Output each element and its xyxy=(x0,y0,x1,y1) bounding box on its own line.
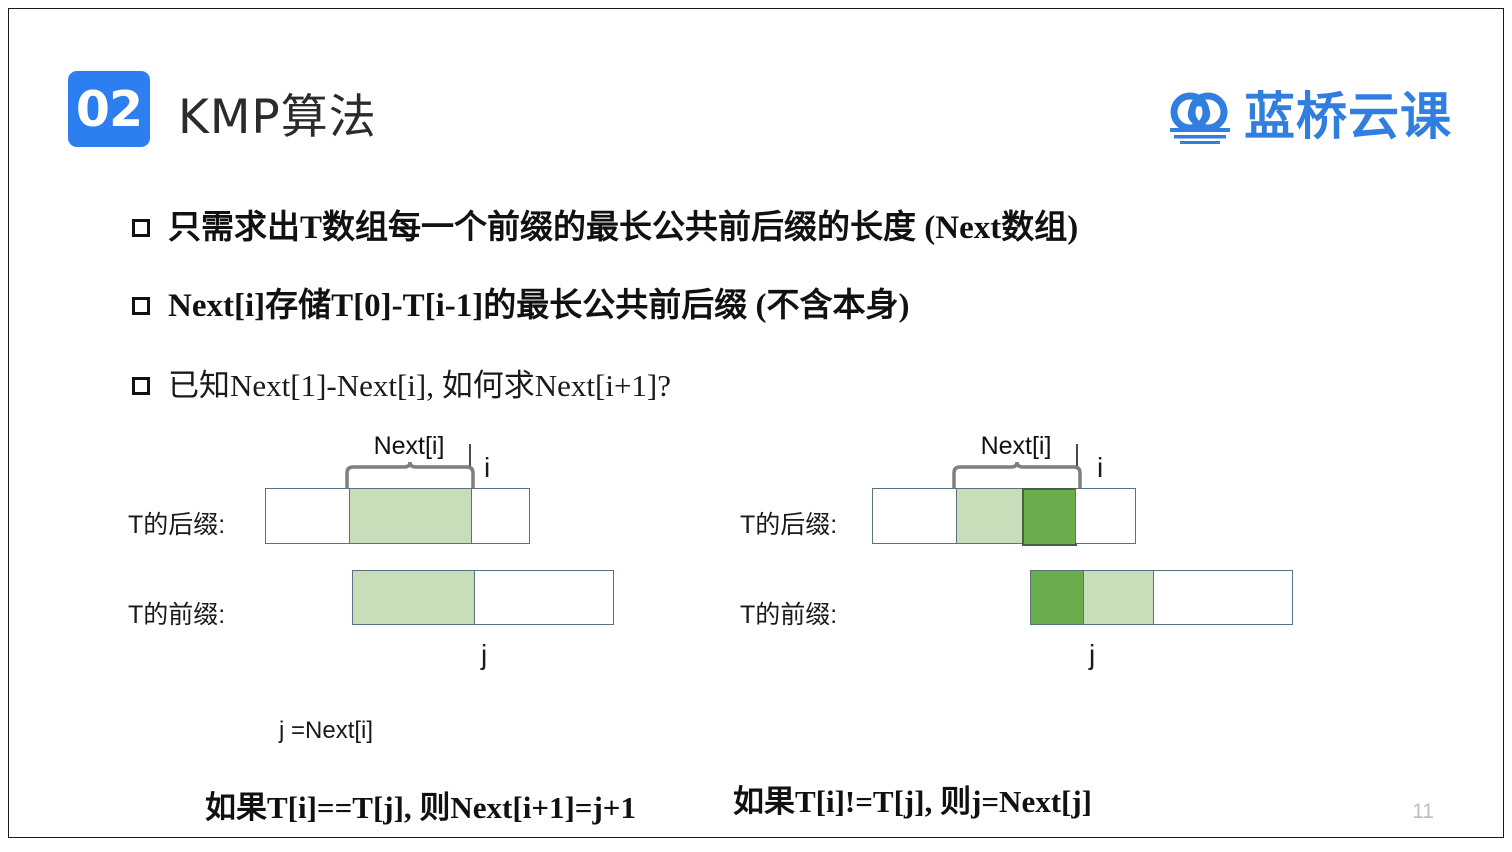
left-next-brace-icon xyxy=(344,462,476,488)
left-marker-j: j xyxy=(481,639,487,671)
diagram-left: Next[i] i T的后缀: T的前缀: j j =Next[i] 如果T[i… xyxy=(0,0,700,852)
left-suffix-bar xyxy=(265,488,530,544)
left-prefix-bar xyxy=(352,570,614,625)
right-suffix-bar xyxy=(872,488,1136,544)
segment-white xyxy=(471,489,529,543)
segment-light-green xyxy=(353,571,474,624)
left-brace-tick xyxy=(469,444,471,466)
segment-light-green xyxy=(956,489,1023,543)
segment-white xyxy=(1075,489,1132,543)
segment-dark-green xyxy=(1031,571,1083,624)
j-assignment-note: j =Next[i] xyxy=(279,717,373,745)
segment-white xyxy=(1153,571,1291,624)
segment-light-green xyxy=(349,489,471,543)
segment-white xyxy=(266,489,349,543)
slide-canvas: 02 KMP算法 蓝桥云课 只需求出T数组每一个前缀的最长公共前后缀的长度 (N… xyxy=(0,0,1512,852)
right-prefix-bar xyxy=(1030,570,1293,625)
segment-white xyxy=(873,489,956,543)
right-next-brace-icon xyxy=(951,462,1083,488)
conclusion-left: 如果T[i]==T[j], 则Next[i+1]=j+1 xyxy=(205,782,636,827)
diagram-right: Next[i] i T的后缀: T的前缀: j 如果T[i]!=T[j], 则j… xyxy=(700,0,1512,852)
conclusion-right: 如果T[i]!=T[j], 则j=Next[j] xyxy=(733,776,1092,821)
segment-white xyxy=(474,571,612,624)
left-brace-label: Next[i] xyxy=(348,432,470,461)
right-suffix-label: T的后缀: xyxy=(740,505,837,541)
right-marker-i: i xyxy=(1097,452,1103,484)
right-marker-j: j xyxy=(1089,639,1095,671)
right-brace-tick xyxy=(1076,444,1078,466)
right-prefix-label: T的前缀: xyxy=(740,595,837,631)
segment-light-green xyxy=(1083,571,1153,624)
left-marker-i: i xyxy=(484,452,490,484)
left-suffix-label: T的后缀: xyxy=(128,505,225,541)
page-number: 11 xyxy=(1412,800,1434,824)
left-prefix-label: T的前缀: xyxy=(128,595,225,631)
segment-dark-green xyxy=(1022,488,1077,547)
right-brace-label: Next[i] xyxy=(955,432,1077,461)
